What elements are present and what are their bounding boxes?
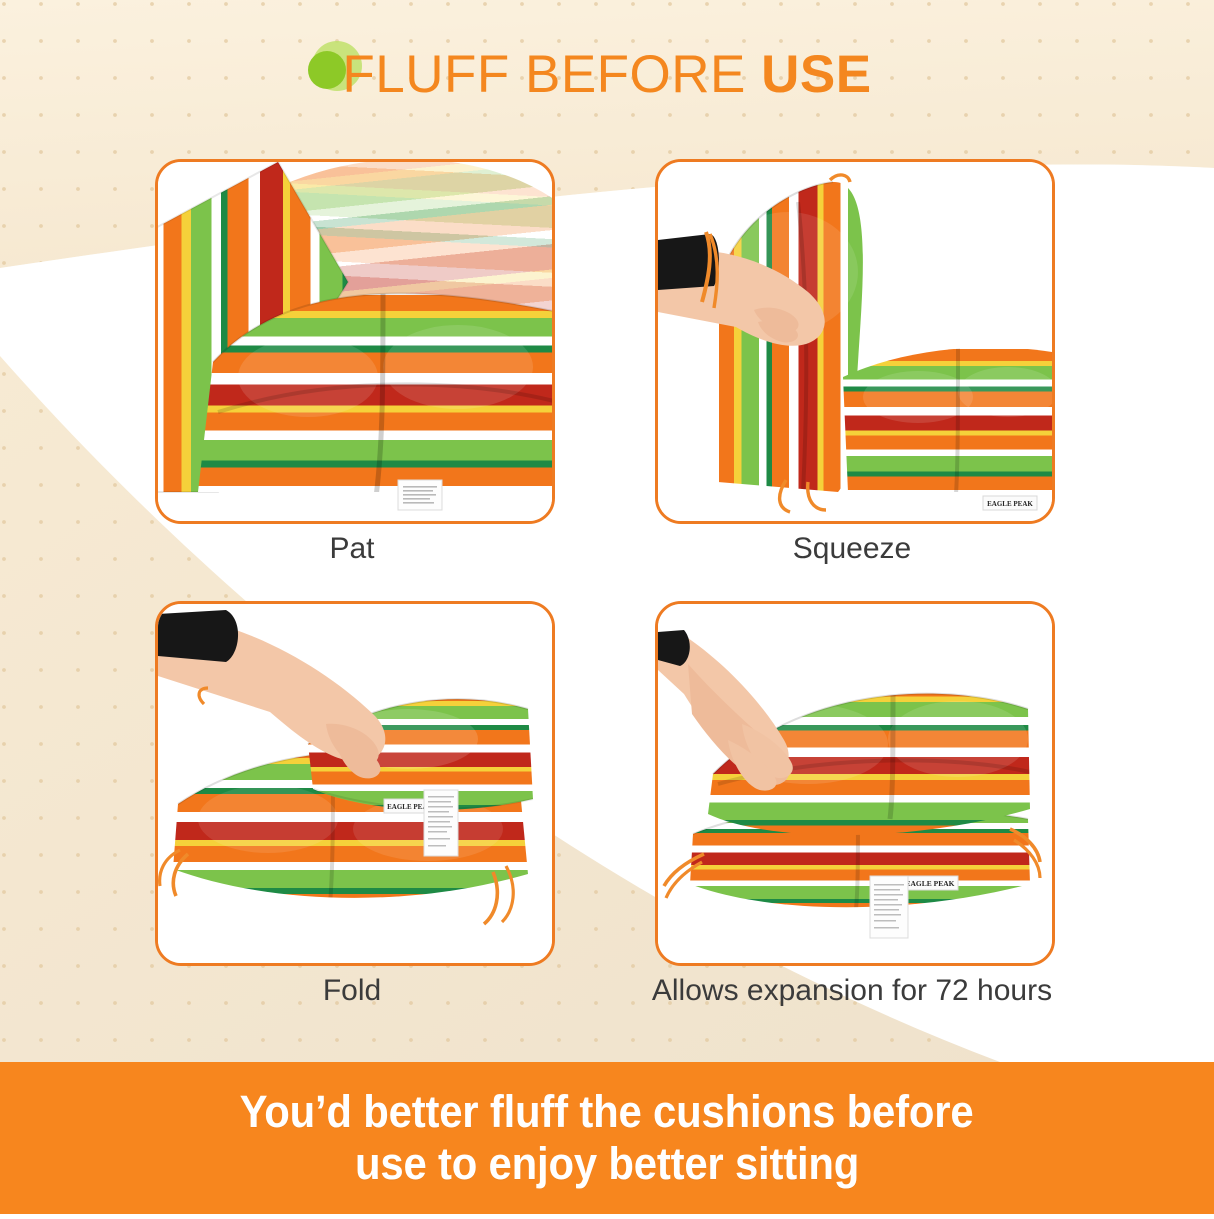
care-label bbox=[398, 480, 442, 510]
title-emphasis: USE bbox=[761, 45, 871, 104]
bottom-banner: You’d better fluff the cushions before u… bbox=[0, 1062, 1214, 1214]
banner-line-1: You’d better fluff the cushions before bbox=[240, 1086, 974, 1138]
caption-expansion: Allows expansion for 72 hours bbox=[600, 974, 1104, 1008]
page-title: FLUFF BEFORE USE bbox=[0, 34, 1214, 114]
step-image-fold: EAGLE PEAK bbox=[155, 601, 555, 966]
step-image-squeeze: EAGLE PEAK bbox=[655, 159, 1055, 524]
brand-tag: EAGLE PEAK bbox=[983, 496, 1037, 510]
caption-fold: Fold bbox=[155, 974, 549, 1008]
caption-pat: Pat bbox=[155, 532, 549, 566]
brand-tag-text: EAGLE PEAK bbox=[906, 879, 955, 888]
title-main: FLUFF BEFORE bbox=[342, 45, 761, 104]
care-label bbox=[870, 876, 908, 938]
care-label bbox=[424, 790, 458, 856]
brand-tag-text: EAGLE PEAK bbox=[987, 500, 1033, 508]
caption-squeeze: Squeeze bbox=[655, 532, 1049, 566]
banner-line-2: use to enjoy better sitting bbox=[355, 1138, 859, 1190]
brand-tag: EAGLE PEAK bbox=[902, 876, 958, 890]
step-image-expansion: EAGLE PEAK bbox=[655, 601, 1055, 966]
step-image-pat bbox=[155, 159, 555, 524]
